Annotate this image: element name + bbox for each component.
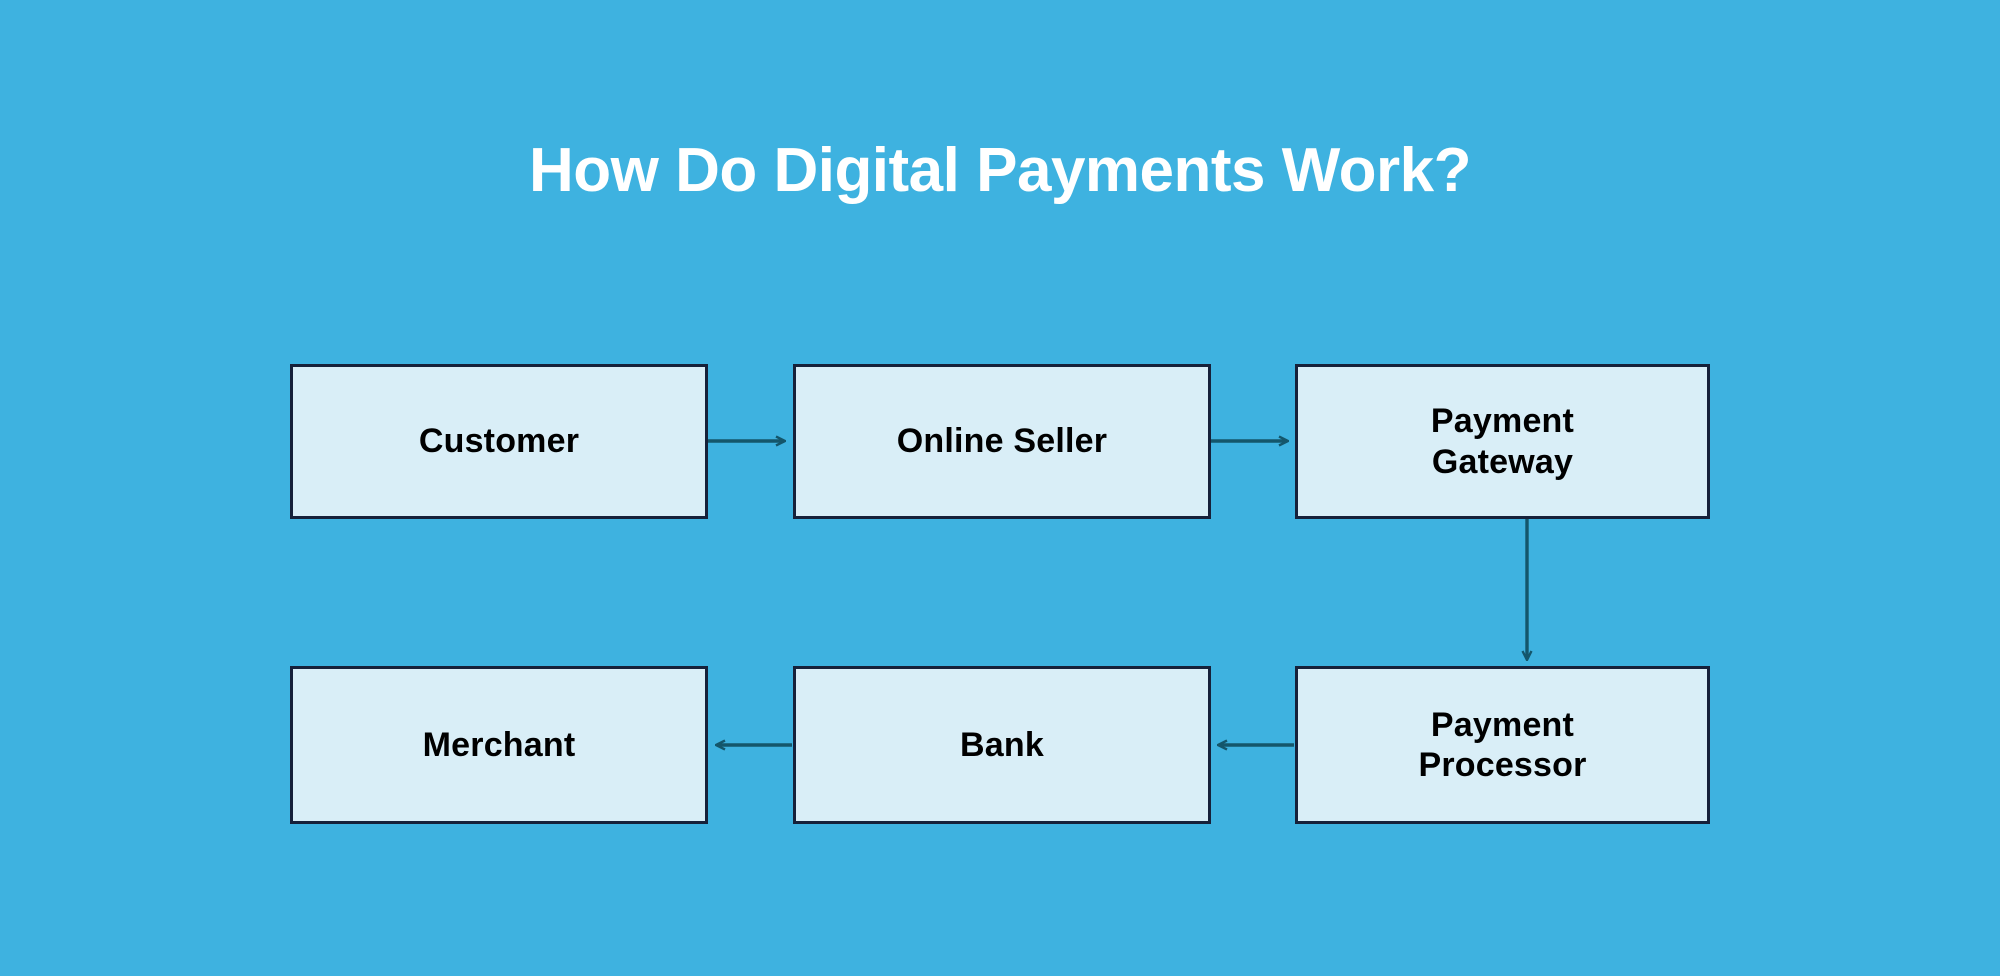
node-customer[interactable]: Customer [290, 364, 708, 519]
node-bank[interactable]: Bank [793, 666, 1211, 824]
node-payment-processor[interactable]: Payment Processor [1295, 666, 1710, 824]
node-payment-gateway[interactable]: Payment Gateway [1295, 364, 1710, 519]
node-online-seller[interactable]: Online Seller [793, 364, 1211, 519]
node-payment-gateway-label: Payment Gateway [1421, 401, 1584, 481]
page-title: How Do Digital Payments Work? [0, 138, 2000, 203]
node-merchant[interactable]: Merchant [290, 666, 708, 824]
node-bank-label: Bank [950, 725, 1054, 765]
node-merchant-label: Merchant [413, 725, 586, 765]
node-customer-label: Customer [409, 421, 589, 461]
node-payment-processor-label: Payment Processor [1408, 705, 1596, 785]
node-online-seller-label: Online Seller [887, 421, 1117, 461]
diagram-canvas: How Do Digital Payments Work? Customer O… [0, 0, 2000, 976]
